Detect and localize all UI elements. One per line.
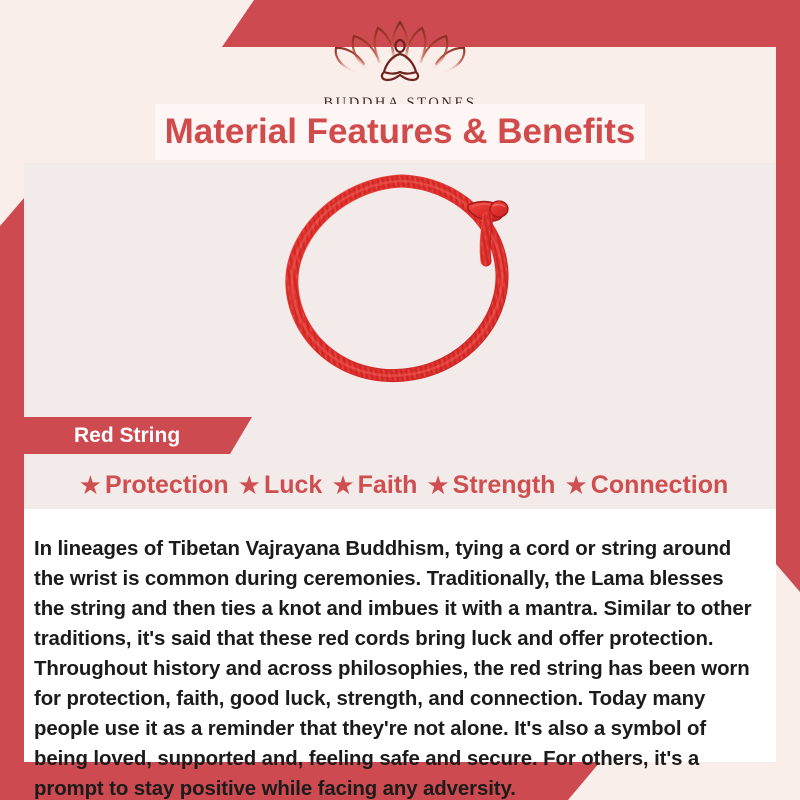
product-photo [24, 163, 776, 408]
frame-band-left [0, 198, 24, 800]
page-title: Material Features & Benefits [155, 104, 645, 160]
lotus-meditation-icon [0, 14, 800, 93]
material-label-banner: Red String [24, 417, 252, 454]
star-icon: ★ [79, 472, 102, 498]
red-string-bracelet-image [250, 169, 550, 408]
feature-item-strength: ★ Strength [419, 472, 555, 498]
star-icon: ★ [426, 472, 449, 498]
brand-logo: BUDDHA STONES [0, 14, 800, 112]
feature-item-protection: ★ Protection [72, 472, 229, 498]
features-list: ★ Protection ★ Luck ★ Faith ★ Strength ★… [24, 463, 776, 507]
material-label-text: Red String [24, 424, 180, 448]
feature-label: Faith [358, 473, 418, 498]
description-text: In lineages of Tibetan Vajrayana Buddhis… [24, 529, 776, 800]
feature-item-faith: ★ Faith [324, 472, 417, 498]
feature-label: Luck [264, 473, 322, 498]
page-title-text: Material Features & Benefits [165, 112, 636, 152]
star-icon: ★ [238, 472, 261, 498]
feature-label: Strength [453, 473, 556, 498]
star-icon: ★ [564, 472, 587, 498]
feature-item-connection: ★ Connection [557, 472, 728, 498]
star-icon: ★ [331, 472, 354, 498]
feature-label: Connection [591, 473, 729, 498]
feature-label: Protection [105, 473, 229, 498]
feature-item-luck: ★ Luck [231, 472, 323, 498]
poster-canvas: BUDDHA STONES Material Features & Benefi… [0, 0, 800, 800]
description-panel: In lineages of Tibetan Vajrayana Buddhis… [24, 509, 776, 762]
